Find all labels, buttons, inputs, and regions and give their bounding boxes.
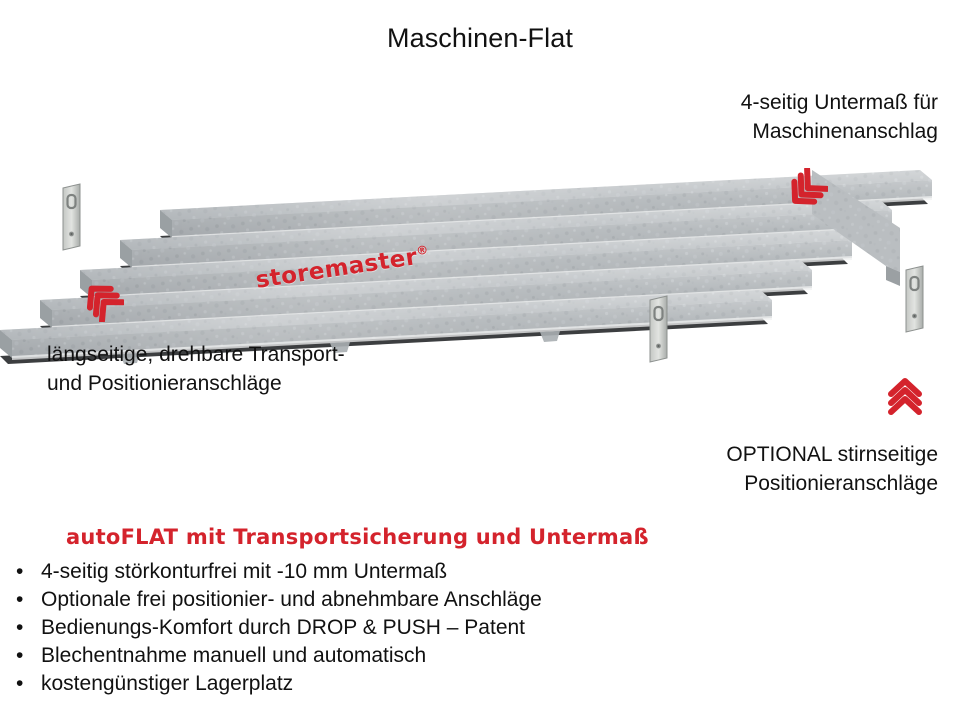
slide-canvas: Maschinen-Flat xyxy=(0,0,960,720)
callout-left: längseitige, drehbare Transport- und Pos… xyxy=(47,340,345,398)
feature-bullet-list: • 4-seitig störkonturfrei mit -10 mm Unt… xyxy=(8,558,708,698)
list-item-label: Blechentnahme manuell und automatisch xyxy=(41,644,426,667)
bullet-marker: • xyxy=(16,670,23,698)
stop-plate xyxy=(650,296,667,362)
list-item-label: 4-seitig störkonturfrei mit -10 mm Unter… xyxy=(41,560,447,583)
callout-top-right-line2: Maschinenanschlag xyxy=(741,117,938,146)
list-item: • Blechentnahme manuell und automatisch xyxy=(8,642,708,670)
callout-left-line1: längseitige, drehbare Transport- xyxy=(47,340,345,369)
bullet-marker: • xyxy=(16,614,23,642)
list-item: • kostengünstiger Lagerplatz xyxy=(8,670,708,698)
callout-bottom-right-line2: Positionieranschläge xyxy=(726,469,938,498)
list-item: • Bedienungs-Komfort durch DROP & PUSH –… xyxy=(8,614,708,642)
bullet-marker: • xyxy=(16,558,23,586)
stop-plate xyxy=(63,184,80,250)
bullet-marker: • xyxy=(16,586,23,614)
chevron-bottom-right-icon xyxy=(882,372,928,418)
stop-plate xyxy=(906,266,923,332)
bullet-marker: • xyxy=(16,642,23,670)
callout-bottom-right-line1: OPTIONAL stirnseitige xyxy=(726,440,938,469)
list-item: • Optionale frei positionier- und abnehm… xyxy=(8,586,708,614)
list-item-label: Optionale frei positionier- und abnehmba… xyxy=(41,588,542,611)
list-item: • 4-seitig störkonturfrei mit -10 mm Unt… xyxy=(8,558,708,586)
chevron-top-right-icon xyxy=(782,168,828,214)
list-item-label: kostengünstiger Lagerplatz xyxy=(41,672,293,695)
page-title: Maschinen-Flat xyxy=(0,21,960,55)
callout-top-right: 4-seitig Untermaß für Maschinenanschlag xyxy=(741,88,938,146)
list-item-label: Bedienungs-Komfort durch DROP & PUSH – P… xyxy=(41,616,525,639)
chevron-left-icon xyxy=(78,276,124,322)
callout-top-right-line1: 4-seitig Untermaß für xyxy=(741,88,938,117)
callout-left-line2: und Positionieranschläge xyxy=(47,369,345,398)
callout-bottom-right: OPTIONAL stirnseitige Positionieranschlä… xyxy=(726,440,938,498)
feature-heading: autoFLAT mit Transportsicherung und Unte… xyxy=(66,524,649,550)
